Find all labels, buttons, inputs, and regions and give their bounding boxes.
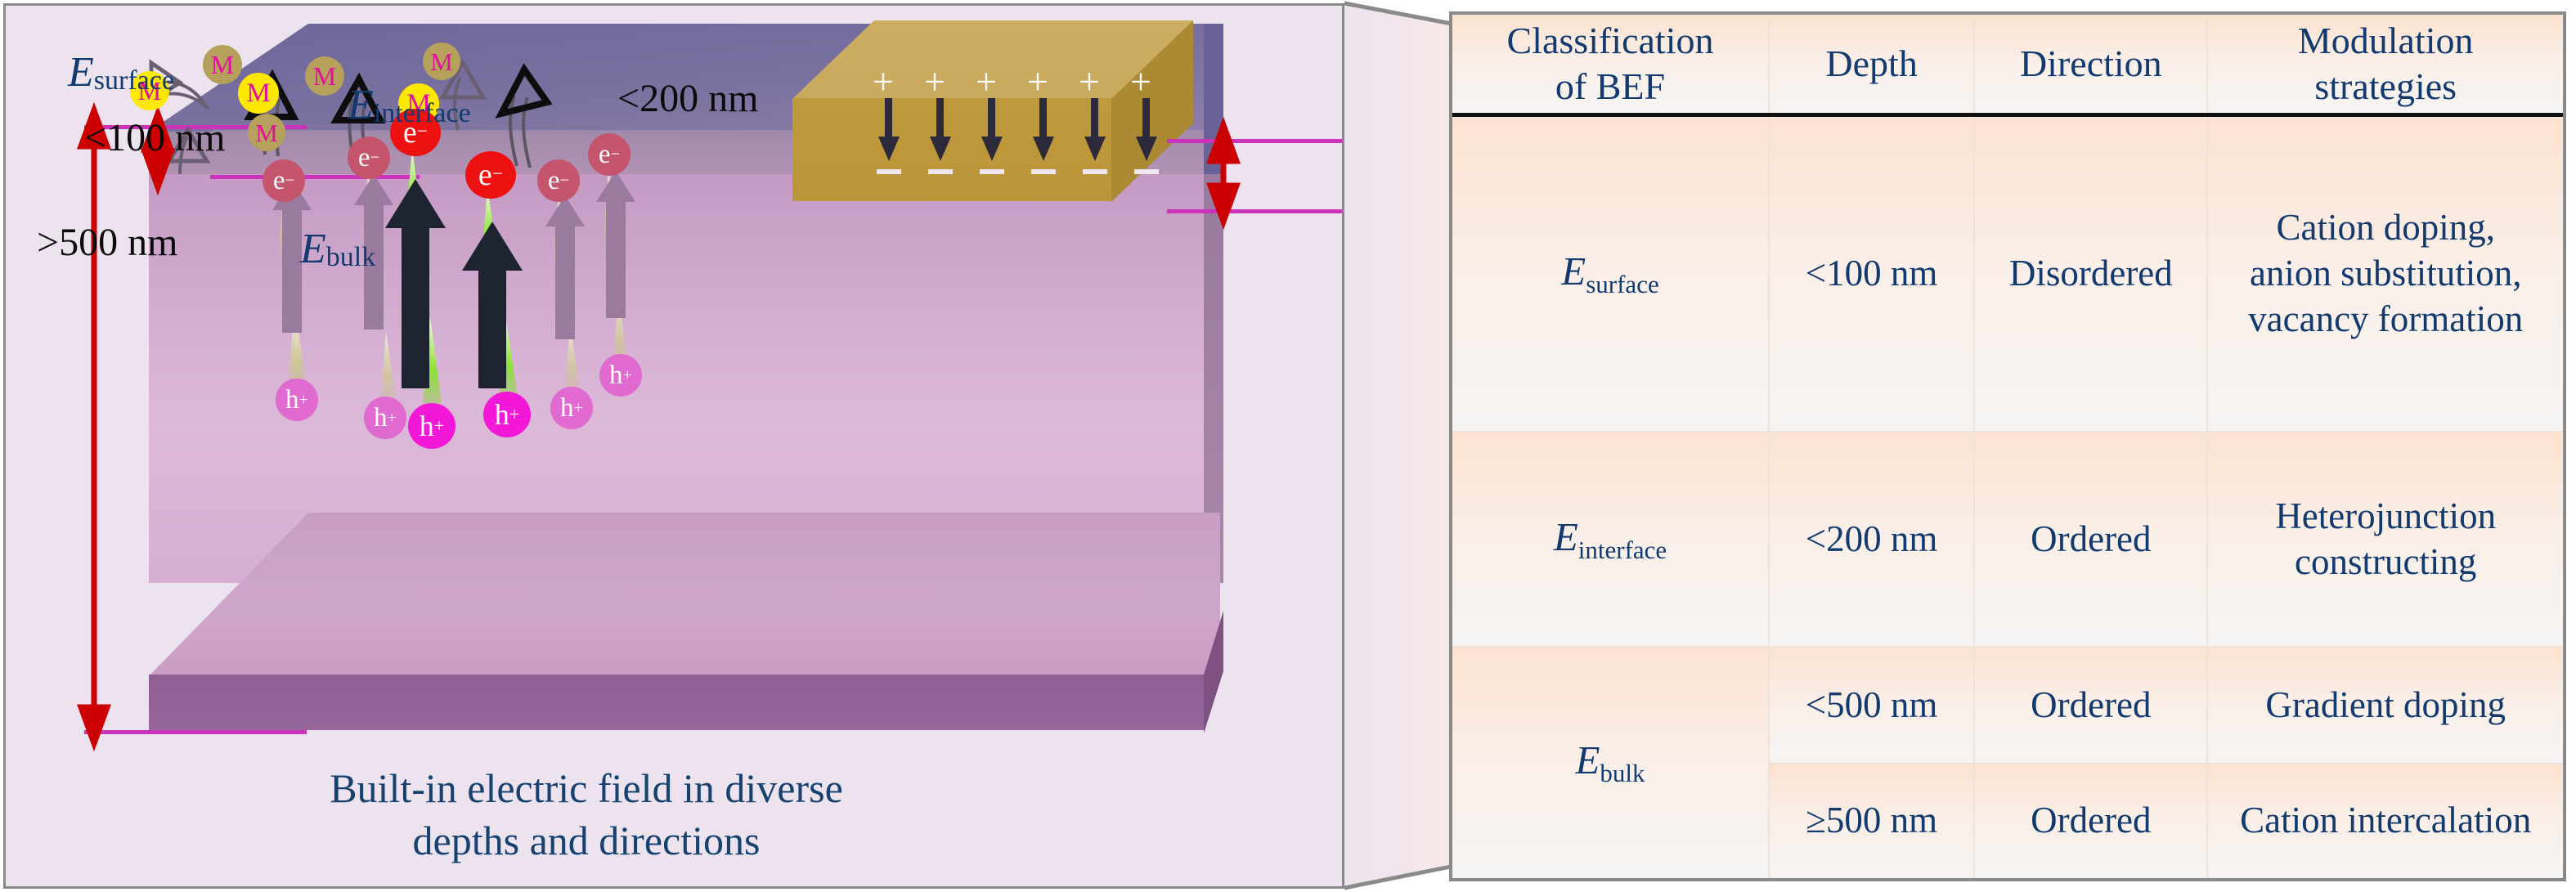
figure-root: + + + + + + M M M M M M M M e− e− e− e− … (0, 0, 2576, 892)
depth-callout-bulk: >500 nm (37, 220, 177, 265)
guide-line-surface-bottom (210, 175, 420, 179)
interface-negative-charge (877, 169, 901, 174)
hole-dim: h+ (550, 387, 593, 429)
base-layer-front-face (149, 675, 1204, 730)
interface-negative-charge (980, 169, 1004, 174)
label-e-bulk: Ebulk (300, 225, 375, 273)
electron-dim: e− (263, 159, 305, 202)
electron-dim: e− (348, 137, 390, 179)
cell-direction: Ordered (1974, 647, 2207, 763)
cell-depth: <500 nm (1769, 647, 1974, 763)
interface-positive-charge: + (1079, 60, 1100, 103)
cell-classification-bulk: Ebulk (1452, 647, 1769, 878)
cell-strategy: Gradient doping (2207, 647, 2563, 763)
slab-right-face-surface (1204, 24, 1223, 179)
label-e-interface: Einterface (348, 81, 471, 129)
interface-negative-charge (928, 169, 953, 174)
caption-line-1: Built-in electric field in diverse (137, 762, 1036, 814)
electron-bright: e− (465, 151, 516, 199)
schematic-panel: + + + + + + M M M M M M M M e− e− e− e− … (3, 3, 1344, 889)
metal-ion-dim: M (423, 43, 460, 80)
interface-positive-charge: + (924, 60, 945, 103)
cell-strategy: Heterojunction constructing (2207, 432, 2563, 647)
cell-depth: ≥500 nm (1769, 764, 1974, 878)
bulk-floor-face (149, 513, 1220, 676)
cell-depth: <100 nm (1769, 115, 1974, 432)
cell-strategy: Cation doping, anion substitution, vacan… (2207, 115, 2563, 432)
depth-callout-interface: <200 nm (617, 76, 758, 121)
interface-positive-charge: + (1130, 60, 1151, 103)
interface-positive-charge: + (976, 60, 997, 103)
guide-line-bulk-bottom (84, 730, 307, 734)
cell-direction: Disordered (1974, 115, 2207, 432)
depth-callout-surface: <100 nm (84, 115, 225, 160)
hole-bright: h+ (408, 403, 456, 449)
cell-direction: Ordered (1974, 432, 2207, 647)
interface-negative-charge (1134, 169, 1159, 174)
cell-direction: Ordered (1974, 764, 2207, 878)
electron-dim: e− (537, 159, 580, 202)
guide-line-interface-bottom (1167, 209, 1344, 213)
header-classification: Classificationof BEF (1452, 15, 1769, 115)
hole-bright: h+ (483, 392, 531, 437)
metal-ion-dim: M (203, 45, 242, 84)
measure-arrow-bulk (81, 110, 107, 743)
interface-negative-charge (1031, 169, 1056, 174)
cell-classification: Esurface (1452, 115, 1769, 432)
table-row: Esurface <100 nm Disordered Cation dopin… (1452, 115, 2563, 432)
caption-line-2: depths and directions (137, 814, 1036, 867)
cell-classification: Einterface (1452, 432, 1769, 647)
hole-dim: h+ (364, 397, 406, 439)
guide-line-interface-top (1167, 139, 1344, 143)
table-header-row: Classificationof BEF Depth Direction Mod… (1452, 15, 2563, 115)
cell-strategy: Cation intercalation (2207, 764, 2563, 878)
metal-ion-dim: M (305, 56, 344, 96)
hole-dim: h+ (599, 354, 642, 397)
interface-negative-charge (1083, 169, 1107, 174)
header-modulation-strategies: Modulationstrategies (2207, 15, 2563, 115)
panel-caption: Built-in electric field in diverse depth… (137, 762, 1036, 867)
label-e-surface: Esurface (68, 48, 174, 96)
table-row: Einterface <200 nm Ordered Heterojunctio… (1452, 432, 2563, 647)
interface-positive-charge: + (1027, 60, 1048, 103)
gold-contact-front-face (792, 98, 1111, 201)
cell-depth: <200 nm (1769, 432, 1974, 647)
bef-classification-table: Classificationof BEF Depth Direction Mod… (1449, 11, 2566, 881)
metal-ion-bright: M (238, 73, 279, 114)
header-depth: Depth (1769, 15, 1974, 115)
table-row: Ebulk <500 nm Ordered Gradient doping (1452, 647, 2563, 763)
header-direction: Direction (1974, 15, 2207, 115)
hole-dim: h+ (276, 379, 318, 421)
electron-dim: e− (588, 133, 631, 176)
interface-positive-charge: + (873, 60, 894, 103)
table: Classificationof BEF Depth Direction Mod… (1452, 15, 2563, 878)
